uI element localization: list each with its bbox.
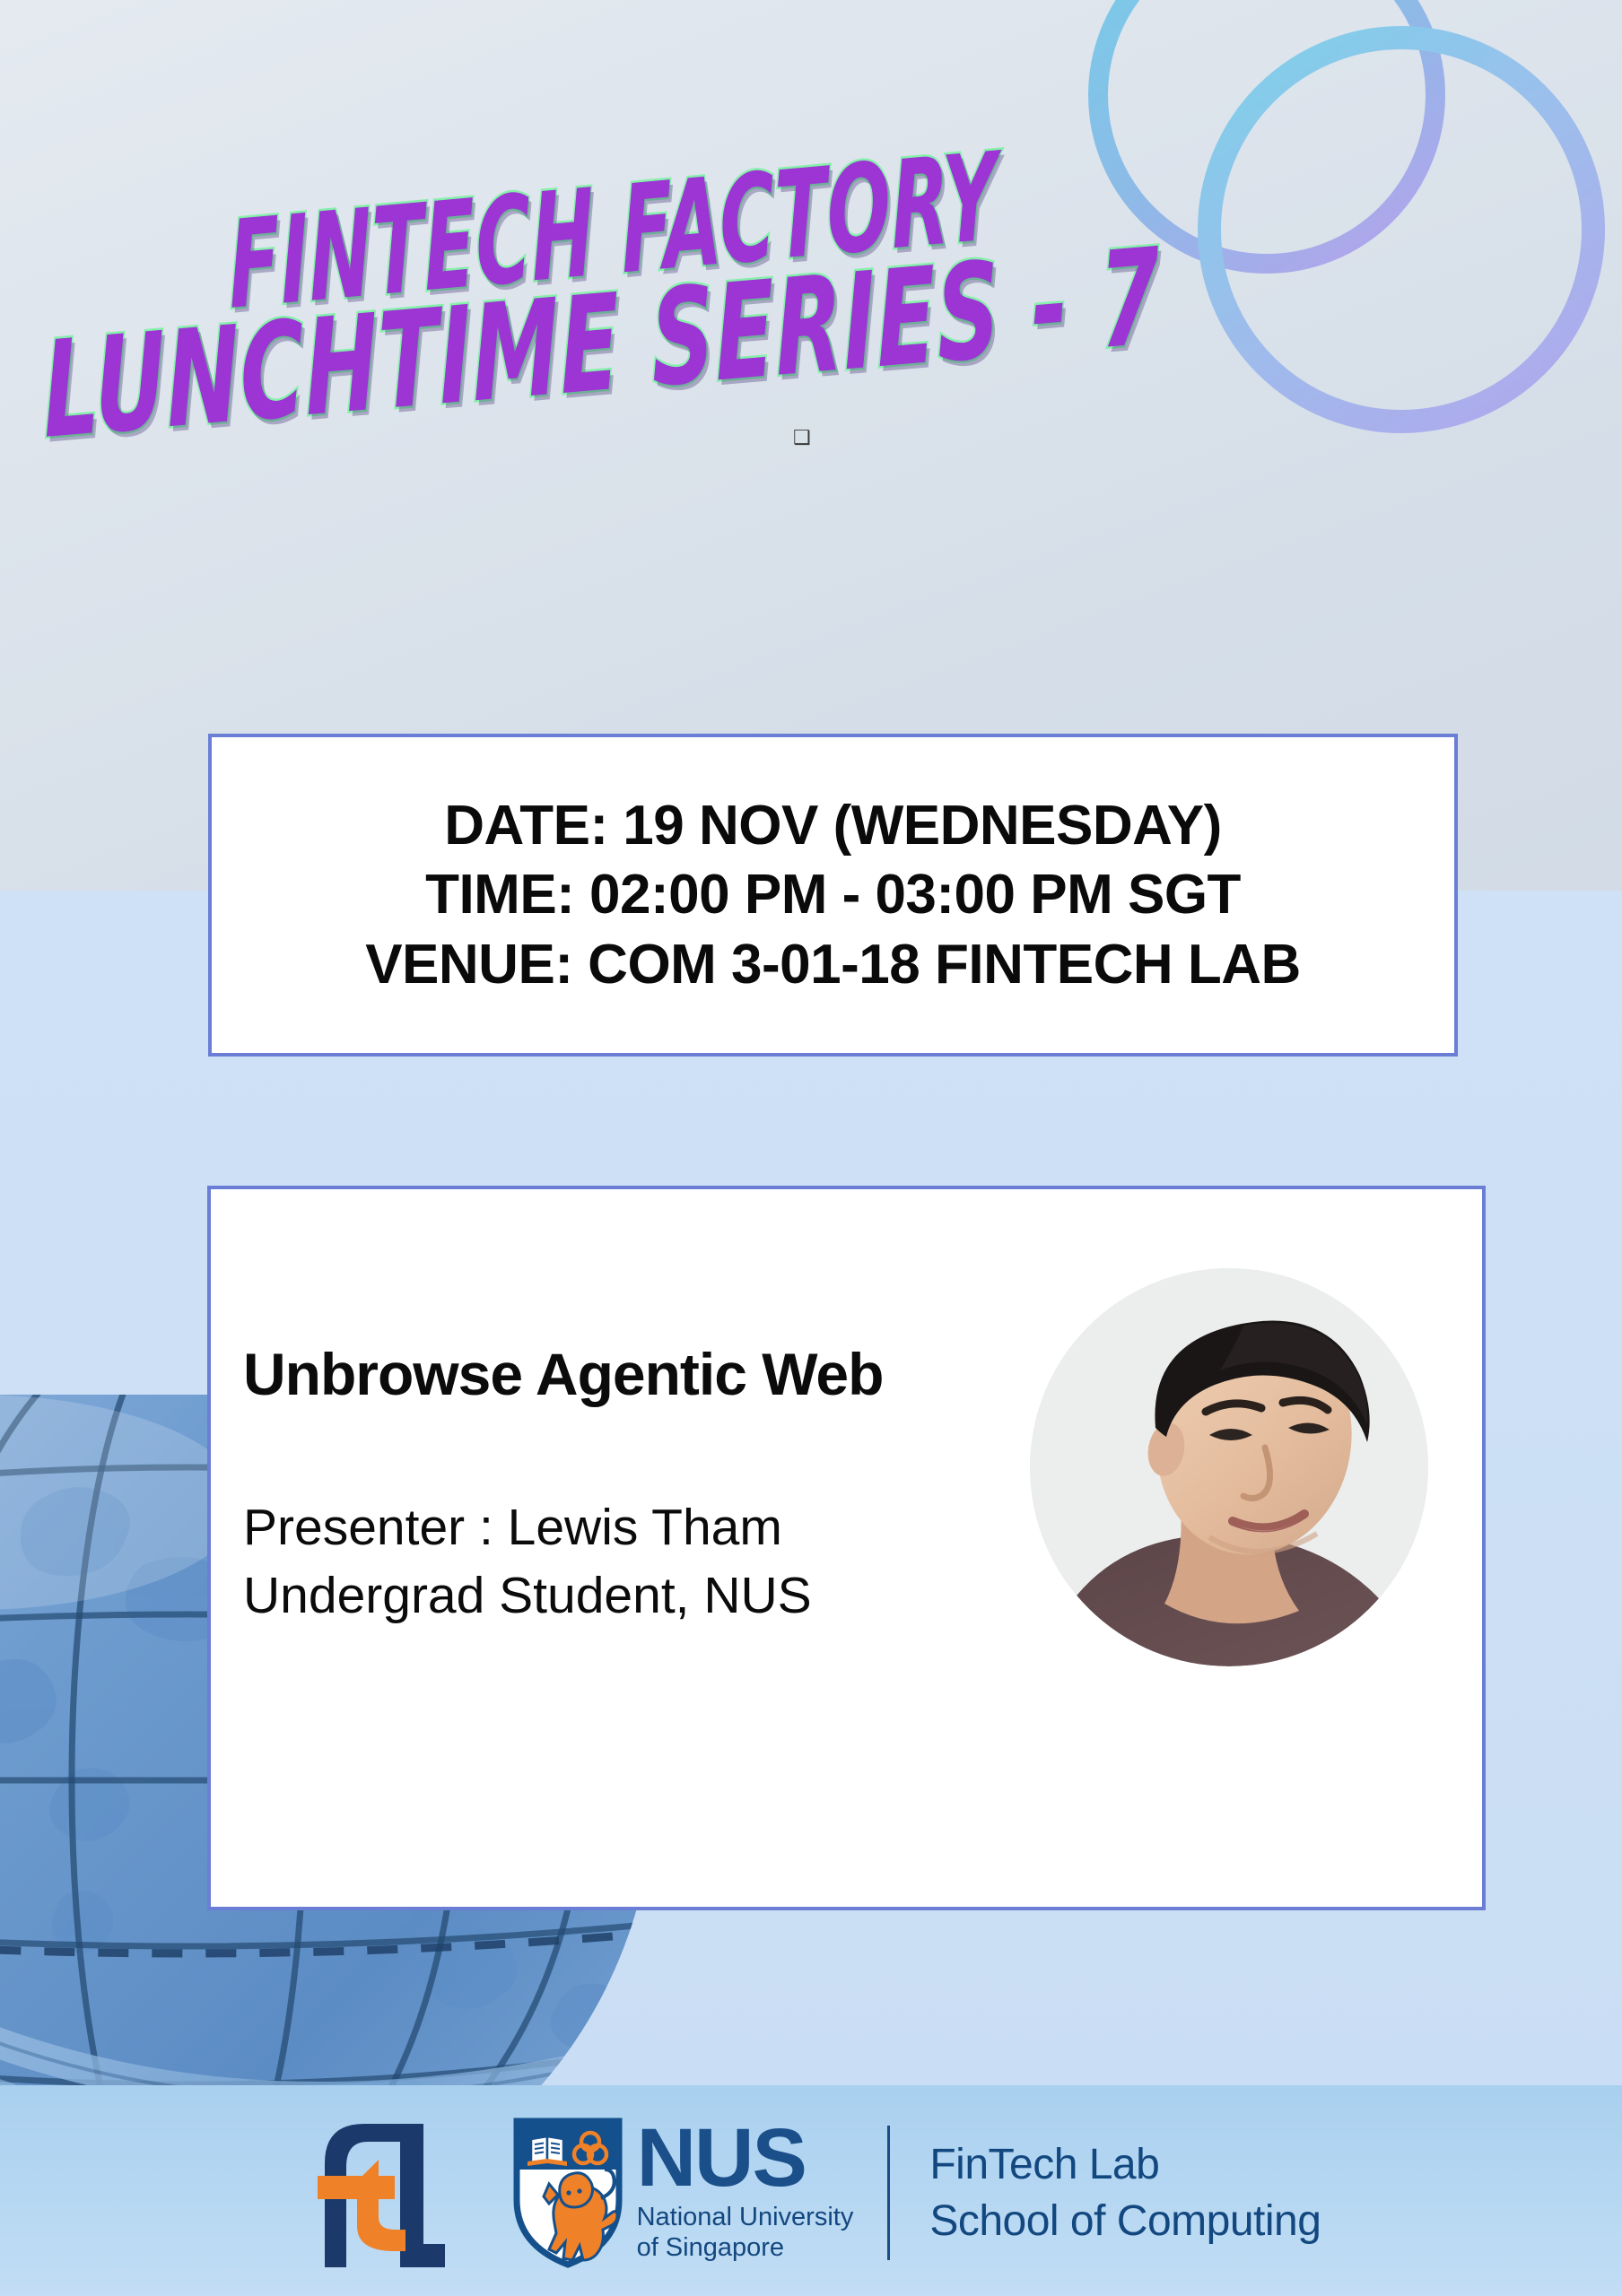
nus-shield-icon [513,2118,623,2268]
poster-root: FINTECH FACTORY LUNCHTIME SERIES - 7 ❑ D… [0,0,1622,2296]
poster-title: FINTECH FACTORY LUNCHTIME SERIES - 7 [0,90,1622,377]
school-of-computing-wordmark: FinTech Lab School of Computing [929,2136,1321,2250]
footer-vertical-divider [887,2126,890,2260]
school-of-computing-text: School of Computing [929,2193,1321,2249]
broken-image-icon: ❑ [793,426,816,449]
presenter-details: Presenter : Lewis Tham Undergrad Student… [243,1494,812,1631]
event-info-box: DATE: 19 NOV (WEDNESDAY) TIME: 02:00 PM … [208,734,1458,1057]
footer-logo-row: NUS National University of Singapore Fin… [0,2099,1622,2287]
nus-acronym-text: NUS [637,2122,854,2195]
event-time-line: TIME: 02:00 PM - 03:00 PM SGT [425,862,1241,927]
nus-subtitle-line-1: National University [637,2202,854,2232]
presenter-affiliation-line: Undergrad Student, NUS [243,1562,812,1631]
presenter-card: Unbrowse Agentic Web Presenter : Lewis T… [207,1186,1486,1910]
presenter-name-line: Presenter : Lewis Tham [243,1494,812,1562]
nus-subtitle-line-2: of Singapore [637,2232,854,2263]
fintech-lab-text: FinTech Lab [929,2136,1321,2193]
talk-title: Unbrowse Agentic Web [243,1340,883,1408]
nus-wordmark: NUS National University of Singapore [637,2122,854,2263]
fintech-lab-logo-icon [301,2117,454,2269]
nus-logo-lockup: NUS National University of Singapore [513,2118,854,2268]
nus-subtitle: National University of Singapore [637,2202,854,2263]
presenter-headshot [1030,1268,1428,1666]
event-date-line: DATE: 19 NOV (WEDNESDAY) [444,793,1221,858]
event-venue-line: VENUE: COM 3-01-18 FINTECH LAB [365,932,1301,997]
